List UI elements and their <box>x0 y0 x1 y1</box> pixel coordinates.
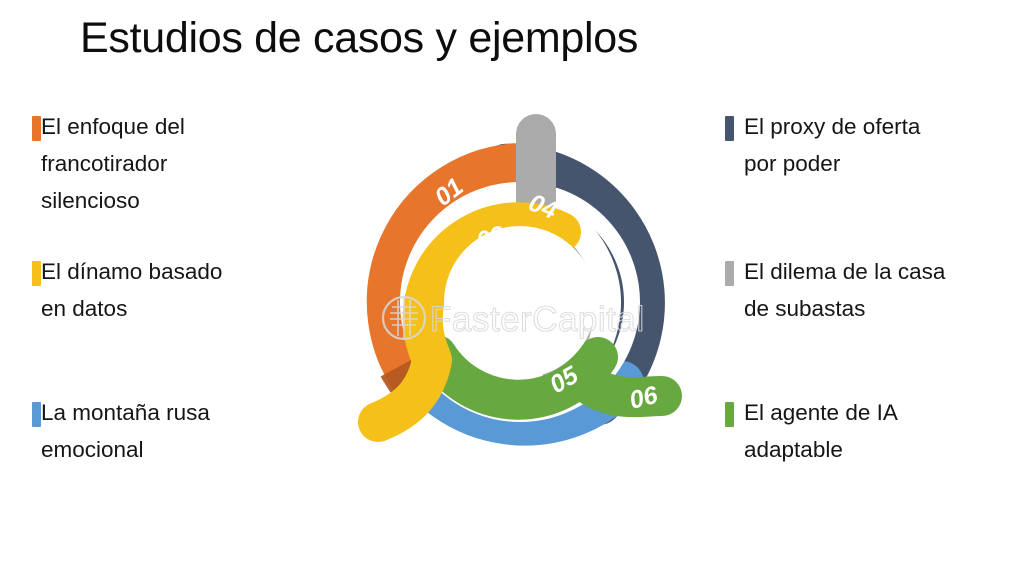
legend-marker-yellow <box>32 261 41 286</box>
legend-label-06-line2: adaptable <box>744 431 1017 468</box>
page-title: Estudios de casos y ejemplos <box>80 14 638 63</box>
legend-item-02[interactable]: El dínamo basado en datos <box>14 253 306 327</box>
donut-diagram: FasterCapital 01 02 03 04 05 06 <box>322 104 718 514</box>
legend-item-06[interactable]: El agente de IA adaptable <box>725 394 1017 468</box>
legend-label-03-line2: emocional <box>41 431 306 468</box>
legend-label-05: El dilema de la casa de subastas <box>744 253 1017 327</box>
legend-label-01-line2: francotirador <box>41 145 306 182</box>
legend-item-01[interactable]: El enfoque del francotirador silencioso <box>14 108 306 219</box>
legend-label-01-line1: El enfoque del <box>41 108 306 145</box>
legend-label-02-line2: en datos <box>41 290 306 327</box>
legend-label-04: El proxy de oferta por poder <box>744 108 1017 182</box>
legend-label-05-line1: El dilema de la casa <box>744 253 1017 290</box>
legend-label-04-line2: por poder <box>744 145 1017 182</box>
legend-label-03-line1: La montaña rusa <box>41 394 306 431</box>
legend-marker-orange <box>32 116 41 141</box>
legend-label-06-line1: El agente de IA <box>744 394 1017 431</box>
legend-marker-gray <box>725 261 734 286</box>
legend-label-03: La montaña rusa emocional <box>41 394 306 468</box>
legend-label-04-line1: El proxy de oferta <box>744 108 1017 145</box>
legend-label-05-line2: de subastas <box>744 290 1017 327</box>
legend-label-02-line1: El dínamo basado <box>41 253 306 290</box>
legend-label-06: El agente de IA adaptable <box>744 394 1017 468</box>
legend-marker-navy <box>725 116 734 141</box>
legend-marker-blue <box>32 402 41 427</box>
legend-item-03[interactable]: La montaña rusa emocional <box>14 394 306 468</box>
legend-label-01: El enfoque del francotirador silencioso <box>41 108 306 219</box>
slide-canvas: Estudios de casos y ejemplos El enfoque … <box>0 0 1024 576</box>
legend-label-02: El dínamo basado en datos <box>41 253 306 327</box>
legend-label-01-line3: silencioso <box>41 182 306 219</box>
legend-item-04[interactable]: El proxy de oferta por poder <box>725 108 1017 182</box>
watermark-text: FasterCapital <box>430 300 645 339</box>
legend-item-05[interactable]: El dilema de la casa de subastas <box>725 253 1017 327</box>
legend-marker-green <box>725 402 734 427</box>
